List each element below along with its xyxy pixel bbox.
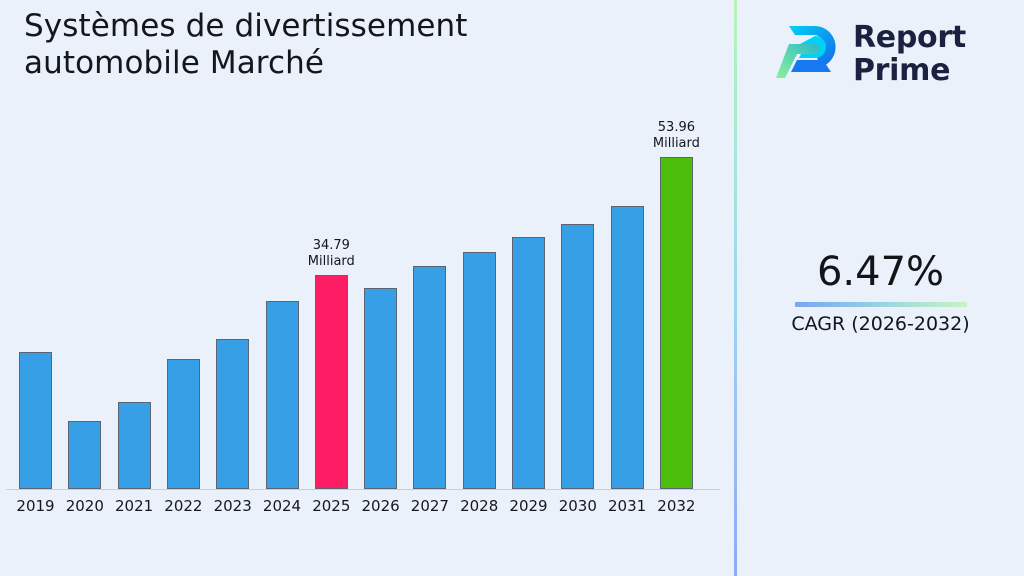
bar-rect-2029[interactable] [512, 237, 545, 489]
info-panel: Report Prime 6.47% CAGR (2026-2032) [737, 0, 1024, 576]
bar-2031[interactable] [611, 206, 644, 489]
x-tick-2026: 2026 [356, 495, 405, 517]
bar-rect-2025[interactable] [315, 275, 348, 489]
plot-area: 34.79Milliard53.96Milliard 2019202020212… [0, 0, 735, 533]
bar-value-label-2025: 34.79Milliard [308, 238, 355, 270]
bar-2022[interactable] [167, 359, 200, 489]
bar-rect-2026[interactable] [364, 288, 397, 489]
bar-rect-2027[interactable] [413, 266, 446, 489]
report-prime-logo-icon [775, 22, 841, 86]
cagr-caption: CAGR (2026-2032) [737, 311, 1024, 337]
x-tick-2028: 2028 [455, 495, 504, 517]
x-tick-2020: 2020 [60, 495, 109, 517]
bar-2021[interactable] [118, 402, 151, 489]
bar-2025[interactable]: 34.79Milliard [315, 275, 348, 489]
bar-rect-2021[interactable] [118, 402, 151, 489]
bar-2030[interactable] [561, 224, 594, 489]
brand-name: Report Prime [853, 21, 966, 87]
bar-rect-2024[interactable] [266, 301, 299, 489]
bar-rect-2019[interactable] [19, 352, 52, 489]
x-axis-line [6, 489, 720, 490]
bar-2026[interactable] [364, 288, 397, 489]
x-tick-2031: 2031 [603, 495, 652, 517]
bar-2027[interactable] [413, 266, 446, 489]
bar-2020[interactable] [68, 421, 101, 489]
cagr-block: 6.47% CAGR (2026-2032) [737, 248, 1024, 337]
bar-2023[interactable] [216, 339, 249, 489]
brand-logo[interactable]: Report Prime [775, 16, 1005, 92]
bar-rect-2028[interactable] [463, 252, 496, 489]
x-tick-2023: 2023 [208, 495, 257, 517]
bar-rect-2023[interactable] [216, 339, 249, 489]
x-tick-2027: 2027 [405, 495, 454, 517]
bar-rect-2030[interactable] [561, 224, 594, 489]
x-tick-2022: 2022 [159, 495, 208, 517]
bar-rect-2020[interactable] [68, 421, 101, 489]
x-tick-2030: 2030 [553, 495, 602, 517]
x-tick-2029: 2029 [504, 495, 553, 517]
bar-2028[interactable] [463, 252, 496, 489]
brand-name-line1: Report [853, 20, 966, 55]
x-tick-2025: 2025 [307, 495, 356, 517]
brand-name-line2: Prime [853, 53, 950, 88]
x-tick-2024: 2024 [258, 495, 307, 517]
x-tick-2019: 2019 [11, 495, 60, 517]
bar-2032[interactable]: 53.96Milliard [660, 157, 693, 489]
x-tick-2032: 2032 [652, 495, 701, 517]
cagr-value: 6.47% [737, 248, 1024, 296]
bar-rect-2032[interactable] [660, 157, 693, 489]
bar-rect-2031[interactable] [611, 206, 644, 489]
chart-panel: Systèmes de divertissement automobile Ma… [0, 0, 735, 576]
bar-value-label-2032: 53.96Milliard [653, 120, 700, 152]
x-axis-tick-labels: 2019202020212022202320242025202620272028… [0, 495, 735, 517]
bar-2019[interactable] [19, 352, 52, 489]
bar-2029[interactable] [512, 237, 545, 489]
cagr-divider [795, 302, 967, 307]
chart-page: Systèmes de divertissement automobile Ma… [0, 0, 1024, 576]
x-tick-2021: 2021 [110, 495, 159, 517]
bar-2024[interactable] [266, 301, 299, 489]
bar-rect-2022[interactable] [167, 359, 200, 489]
